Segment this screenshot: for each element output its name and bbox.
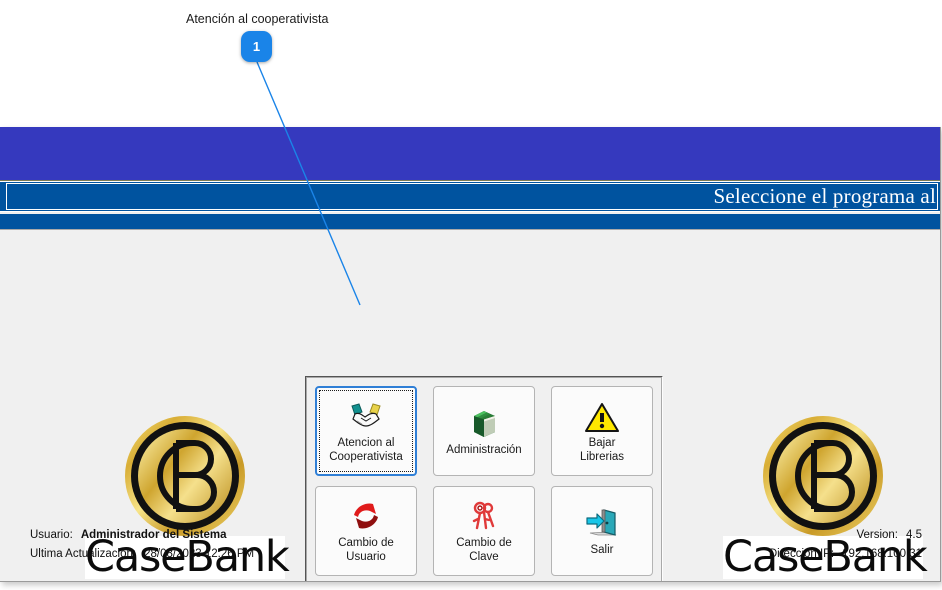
status-ip-value: 192.168.100.31 xyxy=(842,548,922,560)
status-version-value: 4.5 xyxy=(906,529,922,541)
status-bar-left: Usuario: Administrador del Sistema Ultim… xyxy=(30,529,254,567)
status-updated-row: Ultima Actualización: 28/08/2023 12:26 P… xyxy=(30,548,254,567)
status-bar-right: Version: 4.5 Dirección IP: 192.168.100.3… xyxy=(769,529,922,567)
status-bar: Usuario: Administrador del Sistema Ultim… xyxy=(0,529,940,575)
menu-button-label: Administración xyxy=(446,444,521,457)
callout-badge-1: 1 xyxy=(241,31,272,62)
warning-icon xyxy=(585,398,619,432)
menu-button-label: Bajar Librerias xyxy=(580,437,624,463)
status-updated-label: Ultima Actualización: xyxy=(30,548,136,560)
annotation-label: Atención al cooperativista xyxy=(186,12,328,26)
banner-bottom-band xyxy=(0,214,940,230)
casebank-coin-icon xyxy=(121,412,249,540)
menu-button-label: Atencion al Cooperativista xyxy=(329,437,403,463)
banner-title-band: Seleccione el programa al xyxy=(0,181,940,212)
menu-button-atencion-cooperativista[interactable]: Atencion al Cooperativista xyxy=(315,386,417,476)
window-title: Seleccione el programa al xyxy=(714,184,937,209)
casebank-coin-icon xyxy=(759,412,887,540)
status-user-value: Administrador del Sistema xyxy=(81,529,227,541)
status-updated-value: 28/08/2023 12:26 PM xyxy=(144,548,254,560)
banner-top-band xyxy=(0,127,940,181)
status-version-label: Version: xyxy=(856,529,898,541)
menu-button-bajar-librerias[interactable]: Bajar Librerias xyxy=(551,386,653,476)
status-ip-label: Dirección IP: xyxy=(769,548,834,560)
status-version-row: Version: 4.5 xyxy=(769,529,922,548)
refresh-user-icon xyxy=(350,498,382,532)
status-user-label: Usuario: xyxy=(30,529,73,541)
application-window: Seleccione el programa al xyxy=(0,127,941,582)
keys-icon xyxy=(468,498,500,532)
window-body: CaseBank CaseBank xyxy=(0,230,940,582)
menu-button-administracion[interactable]: Administración xyxy=(433,386,535,476)
status-ip-row: Dirección IP: 192.168.100.31 xyxy=(769,548,922,567)
status-user-row: Usuario: Administrador del Sistema xyxy=(30,529,254,548)
banner-title-inset: Seleccione el programa al xyxy=(6,183,938,210)
books-icon xyxy=(466,405,502,439)
handshake-icon xyxy=(346,398,386,432)
